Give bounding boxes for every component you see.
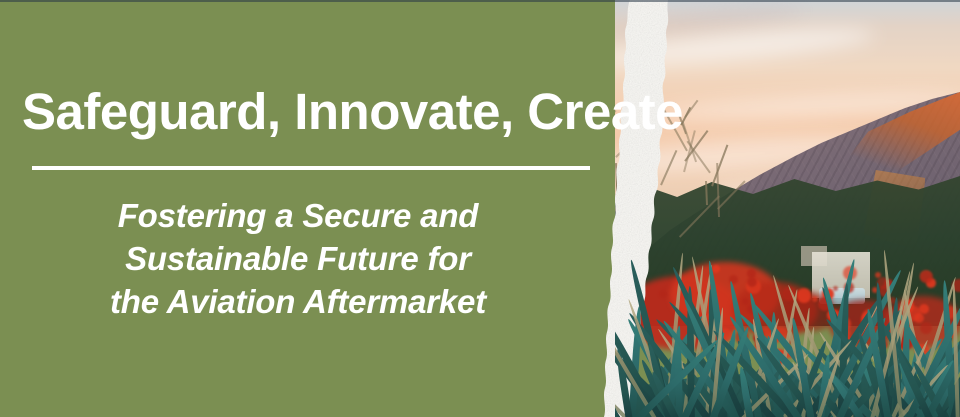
dry-branch: [651, 175, 653, 210]
green-text-panel: Safeguard, Innovate, Create Fostering a …: [0, 0, 640, 417]
teal-agave-plants: [615, 227, 960, 417]
subtitle-line: Sustainable Future for: [0, 237, 596, 280]
subtitle: Fostering a Secure and Sustainable Futur…: [0, 194, 596, 323]
page-title: Safeguard, Innovate, Create: [22, 82, 683, 141]
top-border: [0, 0, 960, 2]
desert-sunset-photo: [615, 0, 960, 417]
subtitle-line: Fostering a Secure and: [0, 194, 596, 237]
divider-rule: [32, 166, 590, 170]
banner: Safeguard, Innovate, Create Fostering a …: [0, 0, 960, 417]
subtitle-line: the Aviation Aftermarket: [0, 280, 596, 323]
